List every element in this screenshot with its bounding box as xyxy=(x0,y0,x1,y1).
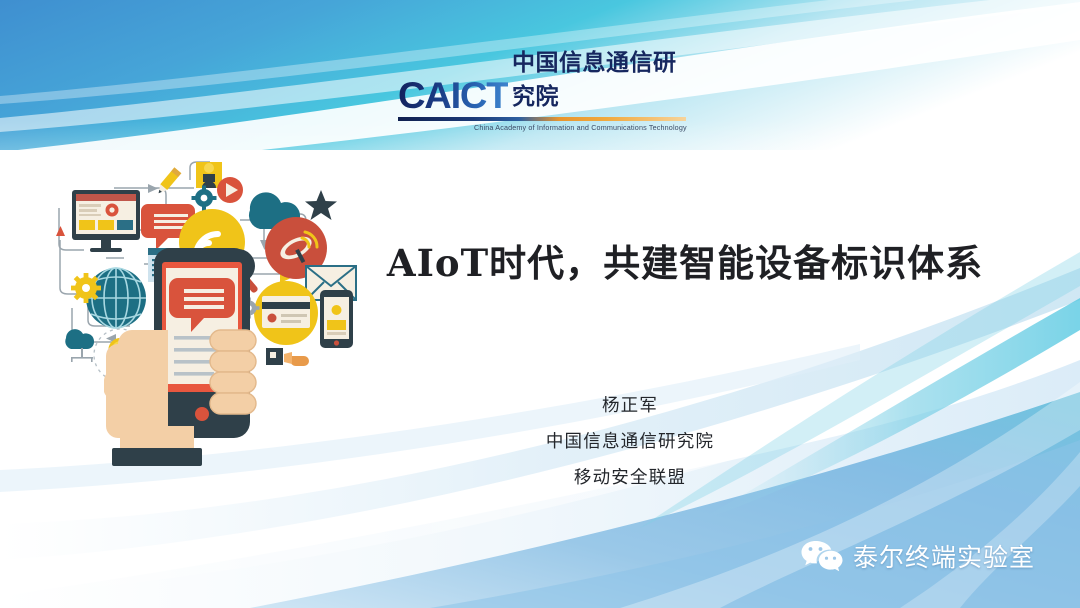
pencil-icon xyxy=(155,167,181,196)
caict-english-name: China Academy of Information and Communi… xyxy=(474,123,698,132)
wechat-icon xyxy=(800,539,844,573)
iot-connectivity-illustration xyxy=(44,148,364,470)
gear-icon xyxy=(192,186,217,211)
presenter-organization: 中国信息通信研究院 xyxy=(420,424,840,460)
presenter-block: 杨正军 中国信息通信研究院 移动安全联盟 xyxy=(420,388,840,496)
logo-divider-bar xyxy=(398,117,686,121)
watermark-label: 泰尔终端实验室 xyxy=(853,538,1035,574)
credit-card-icon xyxy=(254,281,318,345)
caict-chinese-name: 中国信息通信研究院 xyxy=(512,46,698,114)
presenter-name: 杨正军 xyxy=(420,388,840,424)
caict-logo: CAICT 中国信息通信研究院 China Academy of Informa… xyxy=(398,78,698,134)
presenter-alliance: 移动安全联盟 xyxy=(420,460,840,496)
cloud-upload-icon xyxy=(65,329,94,362)
small-phone-icon xyxy=(320,290,353,348)
gear-icon xyxy=(71,273,101,303)
pointing-hand-icon xyxy=(266,348,309,366)
desktop-monitor-icon xyxy=(72,190,140,252)
presentation-slide: CAICT 中国信息通信研究院 China Academy of Informa… xyxy=(0,0,1080,608)
wechat-watermark: 泰尔终端实验室 xyxy=(800,538,1035,574)
caict-wordmark: CAICT xyxy=(398,78,508,114)
star-icon xyxy=(305,190,337,220)
logo-row: CAICT 中国信息通信研究院 xyxy=(398,78,698,114)
slide-title: AIoT时代，共建智能设备标识体系 xyxy=(355,233,1015,287)
play-button-icon xyxy=(217,177,243,203)
briefcase-idea-icon xyxy=(196,162,222,188)
